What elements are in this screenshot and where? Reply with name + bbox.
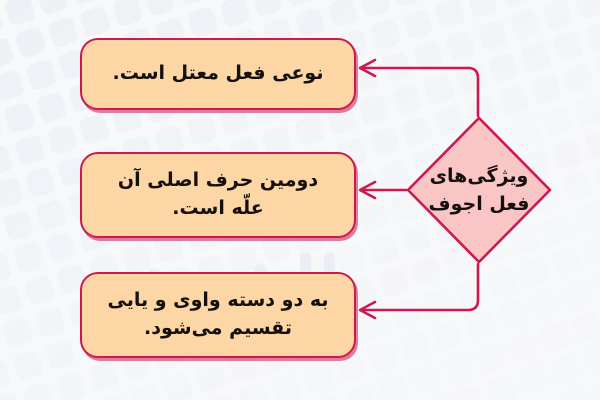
root-diamond-text-wrap: ویژگی‌های فعل اجوف bbox=[404, 114, 554, 266]
edge-root-to-node-1 bbox=[360, 60, 478, 116]
node-box-3-label: به دو دسته واوی و یایی تقسیم می‌شود. bbox=[108, 287, 329, 342]
node-box-1-label: نوعی فعل معتل است. bbox=[113, 60, 324, 88]
node-box-3[interactable]: به دو دسته واوی و یایی تقسیم می‌شود. bbox=[80, 272, 356, 358]
edge-root-to-node-2 bbox=[360, 182, 406, 198]
node-box-2[interactable]: دومین حرف اصلی آن علّه است. bbox=[80, 152, 356, 238]
diagram-canvas: نوعی فعل معتل است. دومین حرف اصلی آن علّ… bbox=[0, 0, 600, 400]
edge-root-to-node-3 bbox=[360, 264, 478, 318]
node-box-2-label: دومین حرف اصلی آن علّه است. bbox=[118, 167, 318, 222]
root-diamond-label: ویژگی‌های فعل اجوف bbox=[429, 162, 530, 219]
node-box-1[interactable]: نوعی فعل معتل است. bbox=[80, 38, 356, 110]
root-diamond-node[interactable]: ویژگی‌های فعل اجوف bbox=[404, 114, 554, 266]
